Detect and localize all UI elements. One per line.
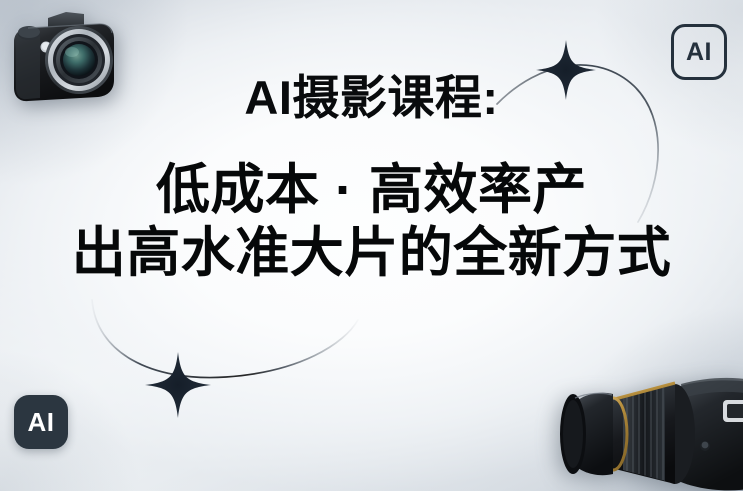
headline-line-2: 低成本 · 高效率产 (0, 159, 743, 222)
promo-banner: AI摄影课程: 低成本 · 高效率产 出高水准大片的全新方式 AI AI (0, 0, 743, 491)
headline-line-3: 出高水准大片的全新方式 (0, 222, 743, 285)
dslr-telephoto-camera-icon (553, 338, 743, 491)
headline-block: AI摄影课程: 低成本 · 高效率产 出高水准大片的全新方式 (0, 72, 743, 285)
swoosh-bottom-line (92, 300, 358, 378)
ai-badge-top-right: AI (671, 24, 727, 80)
sparkle-bottom-icon (145, 352, 211, 418)
headline-line-1: AI摄影课程: (0, 72, 743, 125)
ai-badge-bottom-left: AI (14, 395, 68, 449)
